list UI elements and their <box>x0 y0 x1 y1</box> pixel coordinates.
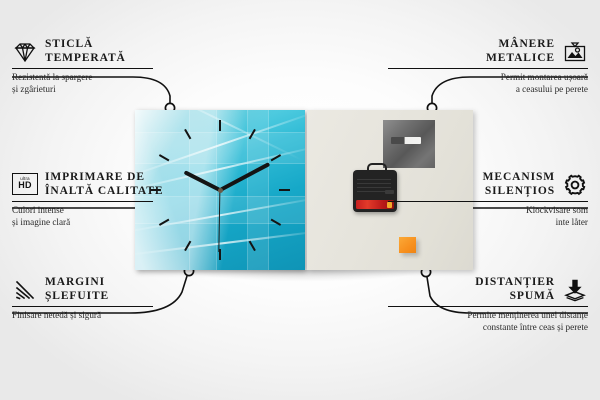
feature-title-line2: TEMPERATĂ <box>45 52 126 66</box>
mechanism-hook <box>367 163 387 174</box>
feature-desc-line1: Permit montarea ușoară <box>388 72 588 83</box>
ultra-hd-icon: ultra HD <box>12 173 38 197</box>
feature-rule <box>12 201 153 202</box>
feature-tempered-glass: STICLĂ TEMPERATĂ Rezistentă la spargere … <box>12 38 212 95</box>
hanger-slot <box>391 137 421 144</box>
feature-silent-mechanism: MECANISM SILENȚIOS Klockvisare som inte … <box>388 171 588 228</box>
feature-polished-edges: MARGINI ȘLEFUITE Finisare netedă și sigu… <box>12 276 212 322</box>
feature-title-line1: IMPRIMARE DE <box>45 171 163 185</box>
feature-desc-line1: Culori intense <box>12 205 222 216</box>
feature-desc-line2: a ceasului pe perete <box>388 84 588 95</box>
diamond-icon <box>12 40 38 64</box>
feature-rule <box>388 201 588 202</box>
feature-desc-line2: inte låter <box>388 217 588 228</box>
feature-desc-line1: Klockvisare som <box>388 205 588 216</box>
feature-title-line2: ȘLEFUITE <box>45 290 109 304</box>
feature-rule <box>388 306 588 307</box>
feature-title-line1: DISTANȚIER <box>475 276 555 290</box>
feature-foam-spacer: DISTANȚIER SPUMĂ Permite menținerea unei… <box>388 276 588 333</box>
feature-hd-print: ultra HD IMPRIMARE DE ÎNALTĂ CALITATE Cu… <box>12 171 222 228</box>
feature-rule <box>12 68 153 69</box>
picture-frame-icon <box>562 40 588 64</box>
feature-title-line1: STICLĂ <box>45 38 126 52</box>
feature-title-line1: MECANISM <box>483 171 555 185</box>
foam-spacer <box>399 237 416 253</box>
feature-title-line1: MÂNERE <box>486 38 555 52</box>
feature-desc-line2: și zgârieturi <box>12 84 212 95</box>
gear-icon <box>562 173 588 197</box>
feature-title-line1: MARGINI <box>45 276 109 290</box>
infographic-canvas: STICLĂ TEMPERATĂ Rezistentă la spargere … <box>0 0 600 400</box>
feature-title-line2: ÎNALTĂ CALITATE <box>45 185 163 199</box>
metal-hanger-plate <box>383 120 435 168</box>
feature-title-line2: METALICE <box>486 52 555 66</box>
feature-rule <box>12 306 153 307</box>
feature-desc-line2: constante între ceas și perete <box>388 322 588 333</box>
feature-desc-line1: Permite menținerea unei distanțe <box>388 310 588 321</box>
feature-desc-line1: Finisare netedă și sigură <box>12 310 212 321</box>
feature-metal-hangers: MÂNERE METALICE Permit montarea ușoară a… <box>388 38 588 95</box>
feature-rule <box>388 68 588 69</box>
feature-title-line2: SPUMĂ <box>475 290 555 304</box>
down-arrow-layers-icon <box>562 278 588 302</box>
ultra-hd-large-label: HD <box>18 181 32 190</box>
feature-desc-line2: și imagine clară <box>12 217 222 228</box>
feature-title-line2: SILENȚIOS <box>483 185 555 199</box>
beveled-edge-icon <box>12 278 38 302</box>
feature-desc-line1: Rezistentă la spargere <box>12 72 212 83</box>
